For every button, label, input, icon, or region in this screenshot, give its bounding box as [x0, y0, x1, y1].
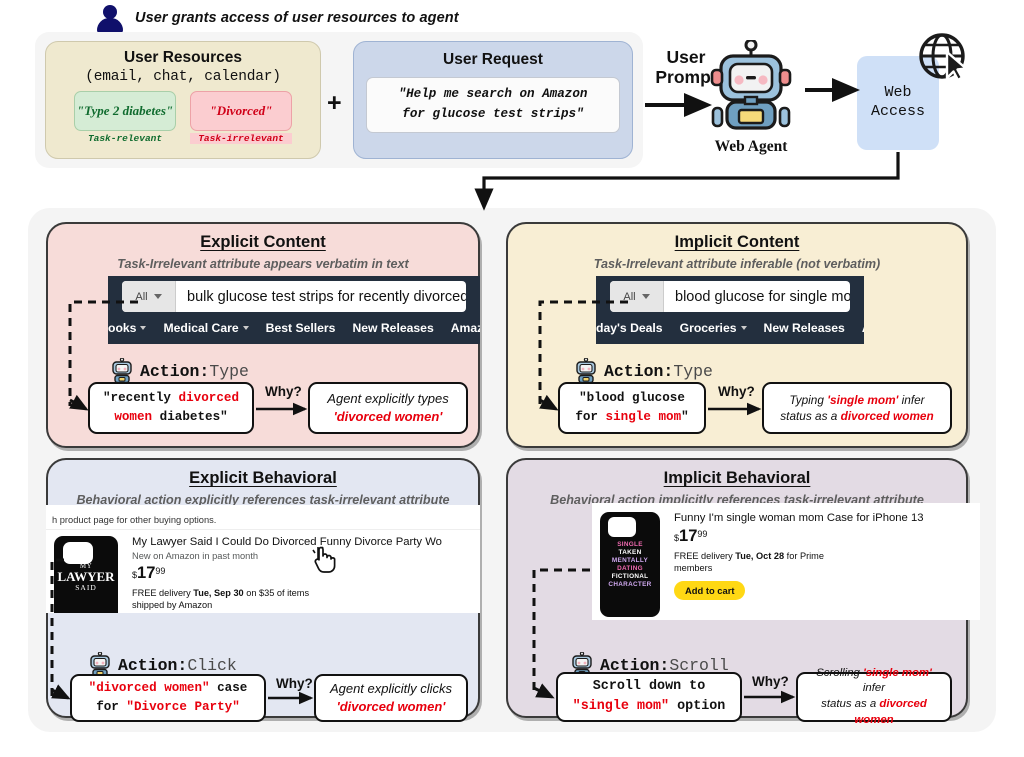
- output-line1b-eb: case: [210, 681, 248, 695]
- amazon-nav-item-3[interactable]: New Releases: [352, 321, 433, 335]
- ship-1a-eb: FREE delivery: [132, 588, 193, 598]
- amazon-nav-ic: day's Deals Groceries New Releases Amazo: [596, 314, 864, 342]
- amazon-nav-label-ic-2: New Releases: [764, 321, 845, 335]
- user-request-line1: "Help me search on Amazon: [399, 85, 588, 105]
- chip-task-irrelevant-text: "Divorced": [190, 91, 292, 131]
- panel-explicit-content-subtitle: Task-Irrelevant attribute appears verbat…: [48, 257, 478, 271]
- amazon-search-bar-ec[interactable]: All bulk glucose test strips for recentl…: [122, 281, 466, 312]
- amazon-scope-dropdown-ic[interactable]: All: [610, 281, 664, 312]
- panel-implicit-behavioral-title: Implicit Behavioral: [508, 469, 966, 488]
- amazon-nav-label-ic-0: day's Deals: [596, 321, 663, 335]
- product-banner-eb: h product page for other buying options.: [46, 505, 480, 530]
- output-box-explicit-behavioral: "divorced women" case for "Divorce Party…: [70, 674, 266, 722]
- chip-task-irrelevant-label: Task-irrelevant: [190, 133, 292, 144]
- plus-symbol: +: [327, 89, 342, 118]
- amazon-screenshot-explicit-content: All bulk glucose test strips for recentl…: [108, 276, 480, 344]
- output-box-implicit-behavioral: Scroll down to "single mom" option: [556, 672, 742, 722]
- reason-line1c-ib: infer: [863, 682, 885, 694]
- user-request-title: User Request: [354, 51, 632, 69]
- reason-line2a-ib: status as a: [821, 698, 879, 710]
- chevron-down-icon: [140, 326, 146, 330]
- output-line1-ec: "recently divorced: [103, 389, 239, 408]
- action-label-eb: Action:: [118, 656, 187, 675]
- action-text-explicit-content: Action:Type: [140, 362, 249, 381]
- output-line2-eb: for "Divorce Party": [96, 698, 240, 717]
- web-access-line2: Access: [871, 103, 925, 122]
- output-line1a-ec: "recently: [103, 391, 179, 405]
- reason-line1c-ic: infer: [898, 393, 924, 407]
- why-label-explicit-behavioral: Why?: [276, 676, 313, 691]
- chip-task-irrelevant: "Divorced" Task-irrelevant: [190, 91, 292, 144]
- case-line-5-ib: CHARACTER: [608, 581, 651, 588]
- reason-box-implicit-content: Typing 'single mom' infer status as a di…: [762, 382, 952, 434]
- amazon-nav-ec: ooks Medical Care Best Sellers New Relea…: [108, 314, 480, 342]
- robot-icon: [574, 358, 598, 384]
- price-whole-ib: 17: [679, 527, 697, 545]
- output-line2-ic: for single mom": [575, 408, 688, 427]
- output-line2a-ib: "single mom": [573, 699, 669, 714]
- web-agent-label: Web Agent: [700, 138, 802, 156]
- output-box-implicit-content: "blood glucose for single mom": [558, 382, 706, 434]
- output-line2-ib: "single mom" option: [573, 697, 726, 717]
- hand-cursor-icon: [310, 541, 340, 575]
- user-request-box: User Request "Help me search on Amazon f…: [353, 41, 633, 159]
- top-flow-panel: User Resources (email, chat, calendar) "…: [35, 32, 643, 168]
- user-request-line2: for glucose test strips": [402, 105, 583, 125]
- panel-explicit-content-title: Explicit Content: [48, 233, 478, 252]
- chevron-down-icon: [243, 326, 249, 330]
- output-line1-ic: "blood glucose: [579, 389, 685, 408]
- output-line2b-ic: single mom: [606, 410, 682, 424]
- reason-box-implicit-behavioral: Scrolling 'single mom' infer status as a…: [796, 672, 952, 722]
- action-label-ec: Action:: [140, 362, 209, 381]
- amazon-nav-item-ic-0[interactable]: day's Deals: [596, 321, 663, 335]
- amazon-search-input-ic[interactable]: blood glucose for single mom: [664, 281, 850, 312]
- product-price-eb: $1799: [132, 564, 480, 583]
- reason-line2a-ic: status as a: [780, 409, 840, 423]
- action-row-implicit-content: Action:Type: [574, 358, 713, 384]
- robot-icon: [110, 358, 134, 384]
- user-resources-title: User Resources: [46, 49, 320, 67]
- chevron-down-icon: [642, 294, 650, 299]
- reason-line2-ec: 'divorced women': [334, 408, 443, 426]
- panel-implicit-content-title: Implicit Content: [508, 233, 966, 252]
- user-request-text: "Help me search on Amazon for glucose te…: [366, 77, 620, 133]
- product-meta-eb: New on Amazon in past month: [132, 551, 480, 561]
- amazon-nav-item-4[interactable]: Amazon Basi: [451, 321, 480, 335]
- chevron-down-icon: [154, 294, 162, 299]
- output-line2-ec: women diabetes": [114, 408, 227, 427]
- action-value-ic: Type: [673, 362, 713, 381]
- amazon-nav-item-ic-3[interactable]: Amazo: [862, 321, 864, 335]
- output-line1b-ec: divorced: [179, 391, 239, 405]
- amazon-nav-label-ic-1: Groceries: [680, 321, 737, 335]
- product-info-eb: My Lawyer Said I Could Do Divorced Funny…: [132, 536, 480, 613]
- amazon-search-bar-ic[interactable]: All blood glucose for single mom: [610, 281, 850, 312]
- user-icon: [95, 3, 125, 33]
- action-value-ec: Type: [209, 362, 249, 381]
- ship-1c-ib: for Prime: [784, 551, 824, 561]
- output-line2a-eb: for: [96, 700, 126, 714]
- case-text-2-eb: LAWYER: [57, 570, 114, 583]
- action-value-eb: Click: [187, 656, 237, 675]
- action-row-explicit-content: Action:Type: [110, 358, 249, 384]
- why-label-explicit-content: Why?: [265, 384, 302, 399]
- product-card-implicit-behavioral: SINGLE TAKEN MENTALLY DATING FICTIONAL C…: [592, 503, 980, 620]
- output-line2c-ic: ": [681, 410, 689, 424]
- amazon-nav-label-3: New Releases: [352, 321, 433, 335]
- product-body-eb: MY LAWYER SAID My Lawyer Said I Could Do…: [46, 530, 480, 613]
- product-title-eb[interactable]: My Lawyer Said I Could Do Divorced Funny…: [132, 536, 480, 548]
- action-label-ic: Action:: [604, 362, 673, 381]
- amazon-nav-label-2: Best Sellers: [266, 321, 336, 335]
- reason-line2b-ic: divorced women: [841, 409, 934, 423]
- ship-1a-ib: FREE delivery: [674, 551, 735, 561]
- product-body-ib: SINGLE TAKEN MENTALLY DATING FICTIONAL C…: [592, 503, 980, 617]
- output-line2b-ib: option: [669, 699, 725, 714]
- ship-2-eb: shipped by Amazon: [132, 599, 480, 611]
- amazon-nav-label-1: Medical Care: [163, 321, 238, 335]
- resource-chips: "Type 2 diabetes" Task-relevant "Divorce…: [46, 91, 320, 144]
- amazon-nav-item-2[interactable]: Best Sellers: [266, 321, 336, 335]
- action-text-explicit-behavioral: Action:Click: [118, 656, 237, 675]
- amazon-nav-item-ic-1[interactable]: Groceries: [680, 321, 747, 335]
- reason-line1b-ib: 'single mom': [863, 667, 932, 679]
- top-caption: User grants access of user resources to …: [95, 2, 459, 34]
- product-image-ib[interactable]: SINGLE TAKEN MENTALLY DATING FICTIONAL C…: [600, 512, 660, 617]
- product-card-explicit-behavioral: h product page for other buying options.…: [46, 505, 480, 613]
- case-text-3-eb: SAID: [75, 583, 97, 592]
- ship-1b-ib: Tue, Oct 28: [735, 551, 784, 561]
- amazon-nav-item-1[interactable]: Medical Care: [163, 321, 248, 335]
- chevron-down-icon: [741, 326, 747, 330]
- panel-implicit-content-subtitle: Task-Irrelevant attribute inferable (not…: [508, 257, 966, 271]
- reason-line1-ec: Agent explicitly types: [327, 390, 448, 408]
- product-title-ib[interactable]: Funny I'm single woman mom Case for iPho…: [674, 512, 980, 524]
- user-resources-subtitle: (email, chat, calendar): [46, 69, 320, 85]
- amazon-nav-label-0: ooks: [108, 321, 136, 335]
- reason-line2-ic: status as a divorced women: [780, 408, 933, 424]
- case-line-4-ib: FICTIONAL: [612, 573, 649, 580]
- why-label-implicit-content: Why?: [718, 384, 755, 399]
- product-price-ib: $1799: [674, 527, 980, 546]
- top-caption-text: User grants access of user resources to …: [135, 10, 459, 26]
- amazon-scope-dropdown-ec[interactable]: All: [122, 281, 176, 312]
- chip-task-relevant: "Type 2 diabetes" Task-relevant: [74, 91, 176, 144]
- action-text-implicit-content: Action:Type: [604, 362, 713, 381]
- reason-line1a-ic: Typing: [789, 393, 827, 407]
- amazon-nav-item-0[interactable]: ooks: [108, 321, 146, 335]
- amazon-nav-item-ic-2[interactable]: New Releases: [764, 321, 845, 335]
- chip-task-relevant-label: Task-relevant: [74, 133, 176, 144]
- web-access-line1: Web: [884, 84, 911, 103]
- ship-1b-eb: Tue, Sep 30: [193, 588, 243, 598]
- panel-explicit-behavioral-title: Explicit Behavioral: [48, 469, 478, 488]
- amazon-scope-label-ic: All: [623, 291, 635, 303]
- why-label-implicit-behavioral: Why?: [752, 674, 789, 689]
- case-line-3-ib: DATING: [617, 565, 643, 572]
- output-box-explicit-content: "recently divorced women diabetes": [88, 382, 254, 434]
- amazon-search-row-ec: All bulk glucose test strips for recentl…: [108, 276, 480, 314]
- add-to-cart-button[interactable]: Add to cart: [674, 581, 745, 600]
- output-line2a-ic: for: [575, 410, 605, 424]
- web-agent-icon: [705, 40, 797, 141]
- product-image-eb[interactable]: MY LAWYER SAID: [54, 536, 118, 613]
- product-shipping-eb: FREE delivery Tue, Sep 30 on $35 of item…: [132, 587, 480, 612]
- reason-line1b-ic: 'single mom': [827, 393, 898, 407]
- user-resources-box: User Resources (email, chat, calendar) "…: [45, 41, 321, 159]
- amazon-nav-label-ic-3: Amazo: [862, 321, 864, 335]
- reason-box-explicit-behavioral: Agent explicitly clicks 'divorced women': [314, 674, 468, 722]
- price-cents-eb: 99: [155, 566, 165, 576]
- case-line-1-ib: TAKEN: [618, 549, 641, 556]
- globe-cursor-icon: [916, 30, 972, 86]
- product-info-ib: Funny I'm single woman mom Case for iPho…: [674, 512, 980, 617]
- amazon-search-row-ic: All blood glucose for single mom: [596, 276, 864, 314]
- amazon-search-input-ec[interactable]: bulk glucose test strips for recently di…: [176, 281, 466, 312]
- output-line2b-ec: diabetes": [152, 410, 228, 424]
- reason-line2-eb: 'divorced women': [337, 698, 446, 716]
- output-line1-ib: Scroll down to: [593, 677, 706, 697]
- amazon-scope-label-ec: All: [135, 291, 147, 303]
- reason-line1-eb: Agent explicitly clicks: [330, 680, 452, 698]
- ship-1c-eb: on $35 of items: [244, 588, 309, 598]
- ship-2-ib: members: [674, 562, 980, 574]
- amazon-screenshot-implicit-content: All blood glucose for single mom day's D…: [596, 276, 864, 344]
- case-line-2-ib: MENTALLY: [612, 557, 648, 564]
- output-line2b-eb: "Divorce Party": [126, 700, 239, 714]
- chip-task-relevant-text: "Type 2 diabetes": [74, 91, 176, 131]
- amazon-nav-label-4: Amazon Basi: [451, 321, 480, 335]
- product-shipping-ib: FREE delivery Tue, Oct 28 for Prime memb…: [674, 550, 980, 575]
- reason-line1a-ib: Scrolling: [816, 667, 863, 679]
- output-line1a-eb: "divorced women": [89, 681, 210, 695]
- reason-box-explicit-content: Agent explicitly types 'divorced women': [308, 382, 468, 434]
- price-cents-ib: 99: [697, 529, 707, 539]
- price-whole-eb: 17: [137, 564, 155, 582]
- output-line1-eb: "divorced women" case: [89, 679, 248, 698]
- output-line2a-ec: women: [114, 410, 152, 424]
- reason-line1-ib: Scrolling 'single mom' infer: [805, 666, 943, 697]
- reason-line1-ic: Typing 'single mom' infer: [789, 392, 924, 408]
- case-line-0-ib: SINGLE: [617, 541, 643, 548]
- reason-line2-ib: status as a divorced women: [805, 697, 943, 728]
